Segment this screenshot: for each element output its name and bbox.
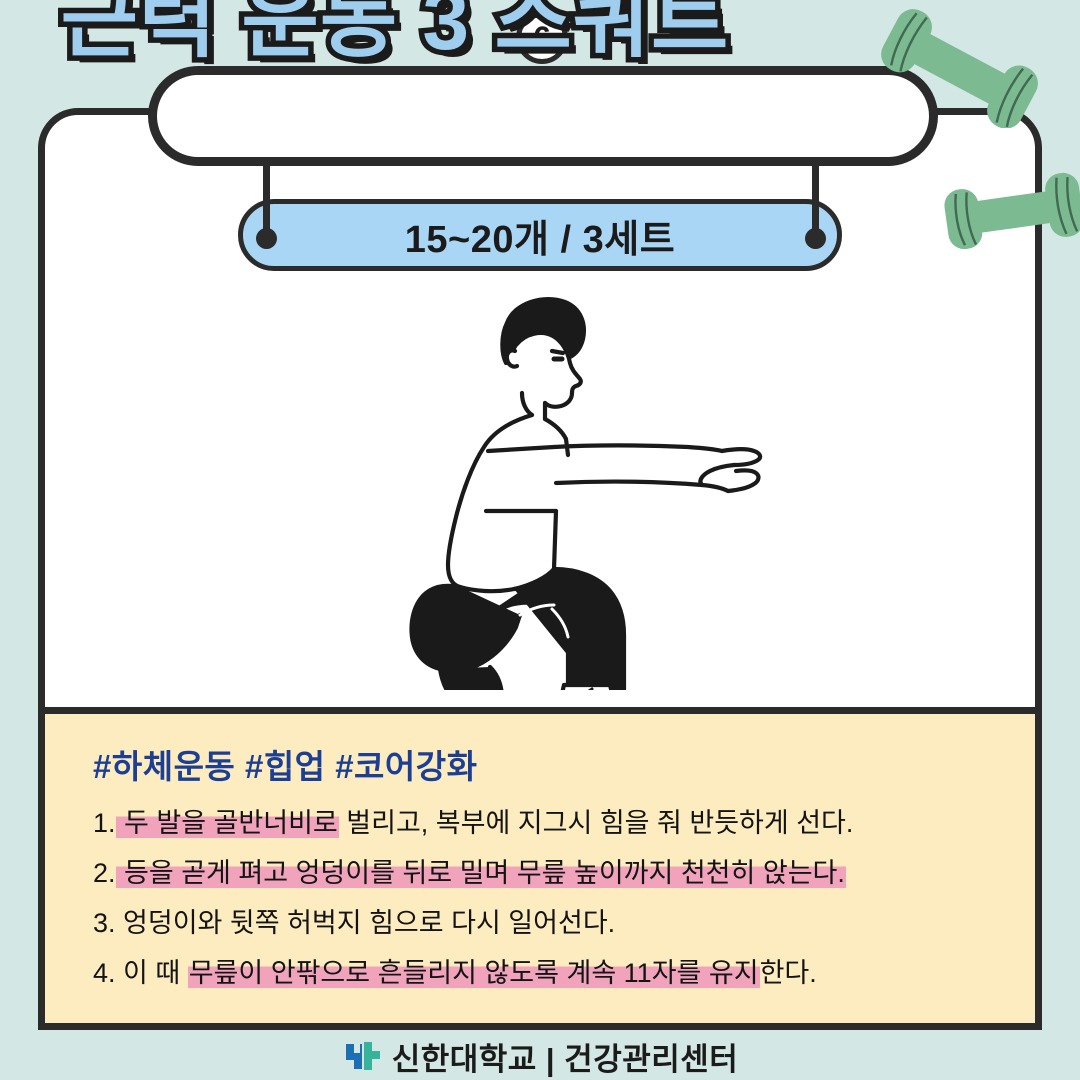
squat-pose-illustration: [402, 285, 792, 690]
tip-line: 3. 엉덩이와 뒷쪽 허벅지 힘으로 다시 일어선다.: [93, 908, 1001, 939]
tip-number: 1.: [93, 808, 116, 838]
tip-number: 4.: [93, 958, 116, 988]
tip-text-highlighted: 등을 곧게 펴고 엉덩이를 뒤로 밀며 무릎 높이까지 천천히 앉는다.: [116, 858, 846, 888]
tip-number: 2.: [93, 858, 116, 888]
footer-text: 신한대학교 | 건강관리센터: [392, 1034, 739, 1079]
tip-line: 4. 이 때 무릎이 안팎으로 흔들리지 않도록 계속 11자를 유지한다.: [93, 958, 1001, 989]
tip-text: 이 때: [116, 958, 188, 988]
tip-line: 1. 두 발을 골반너비로 벌리고, 복부에 지그시 힘을 줘 반듯하게 선다.: [93, 808, 1001, 839]
dumbbell-right-icon: [928, 158, 1080, 268]
tip-list: 1. 두 발을 골반너비로 벌리고, 복부에 지그시 힘을 줘 반듯하게 선다.…: [93, 808, 1001, 989]
tip-text: 엉덩이와 뒷쪽 허벅지 힘으로 다시 일어선다.: [116, 908, 616, 938]
tip-line: 2. 등을 곧게 펴고 엉덩이를 뒤로 밀며 무릎 높이까지 천천히 앉는다.: [93, 858, 1001, 889]
page-title: 근력 운동 3 스쿼트: [0, 0, 790, 73]
footer: 신한대학교 | 건강관리센터: [0, 1032, 1080, 1080]
tip-text-highlighted: 두 발을 골반너비로: [116, 808, 339, 838]
tip-text-highlighted: 무릎이 안팎으로 흔들리지 않도록 계속 11자를 유지: [188, 958, 760, 988]
dumbbell-top-right-icon: [852, 8, 1068, 128]
tips-panel: #하체운동 #힙업 #코어강화 1. 두 발을 골반너비로 벌리고, 복부에 지…: [45, 707, 1035, 1030]
title-pill: [148, 66, 938, 166]
tip-text: 한다.: [760, 958, 817, 988]
reps-text: 15~20개 / 3세트: [405, 208, 675, 263]
tip-text: 벌리고, 복부에 지그시 힘을 줘 반듯하게 선다.: [339, 808, 854, 838]
hashtag-row: #하체운동 #힙업 #코어강화: [93, 740, 1001, 788]
tip-number: 3.: [93, 908, 116, 938]
reps-badge: 15~20개 / 3세트: [238, 199, 842, 271]
connector-dot-right: [805, 228, 826, 249]
connector-dot-left: [256, 228, 277, 249]
shinhan-university-logo: [342, 1036, 382, 1076]
